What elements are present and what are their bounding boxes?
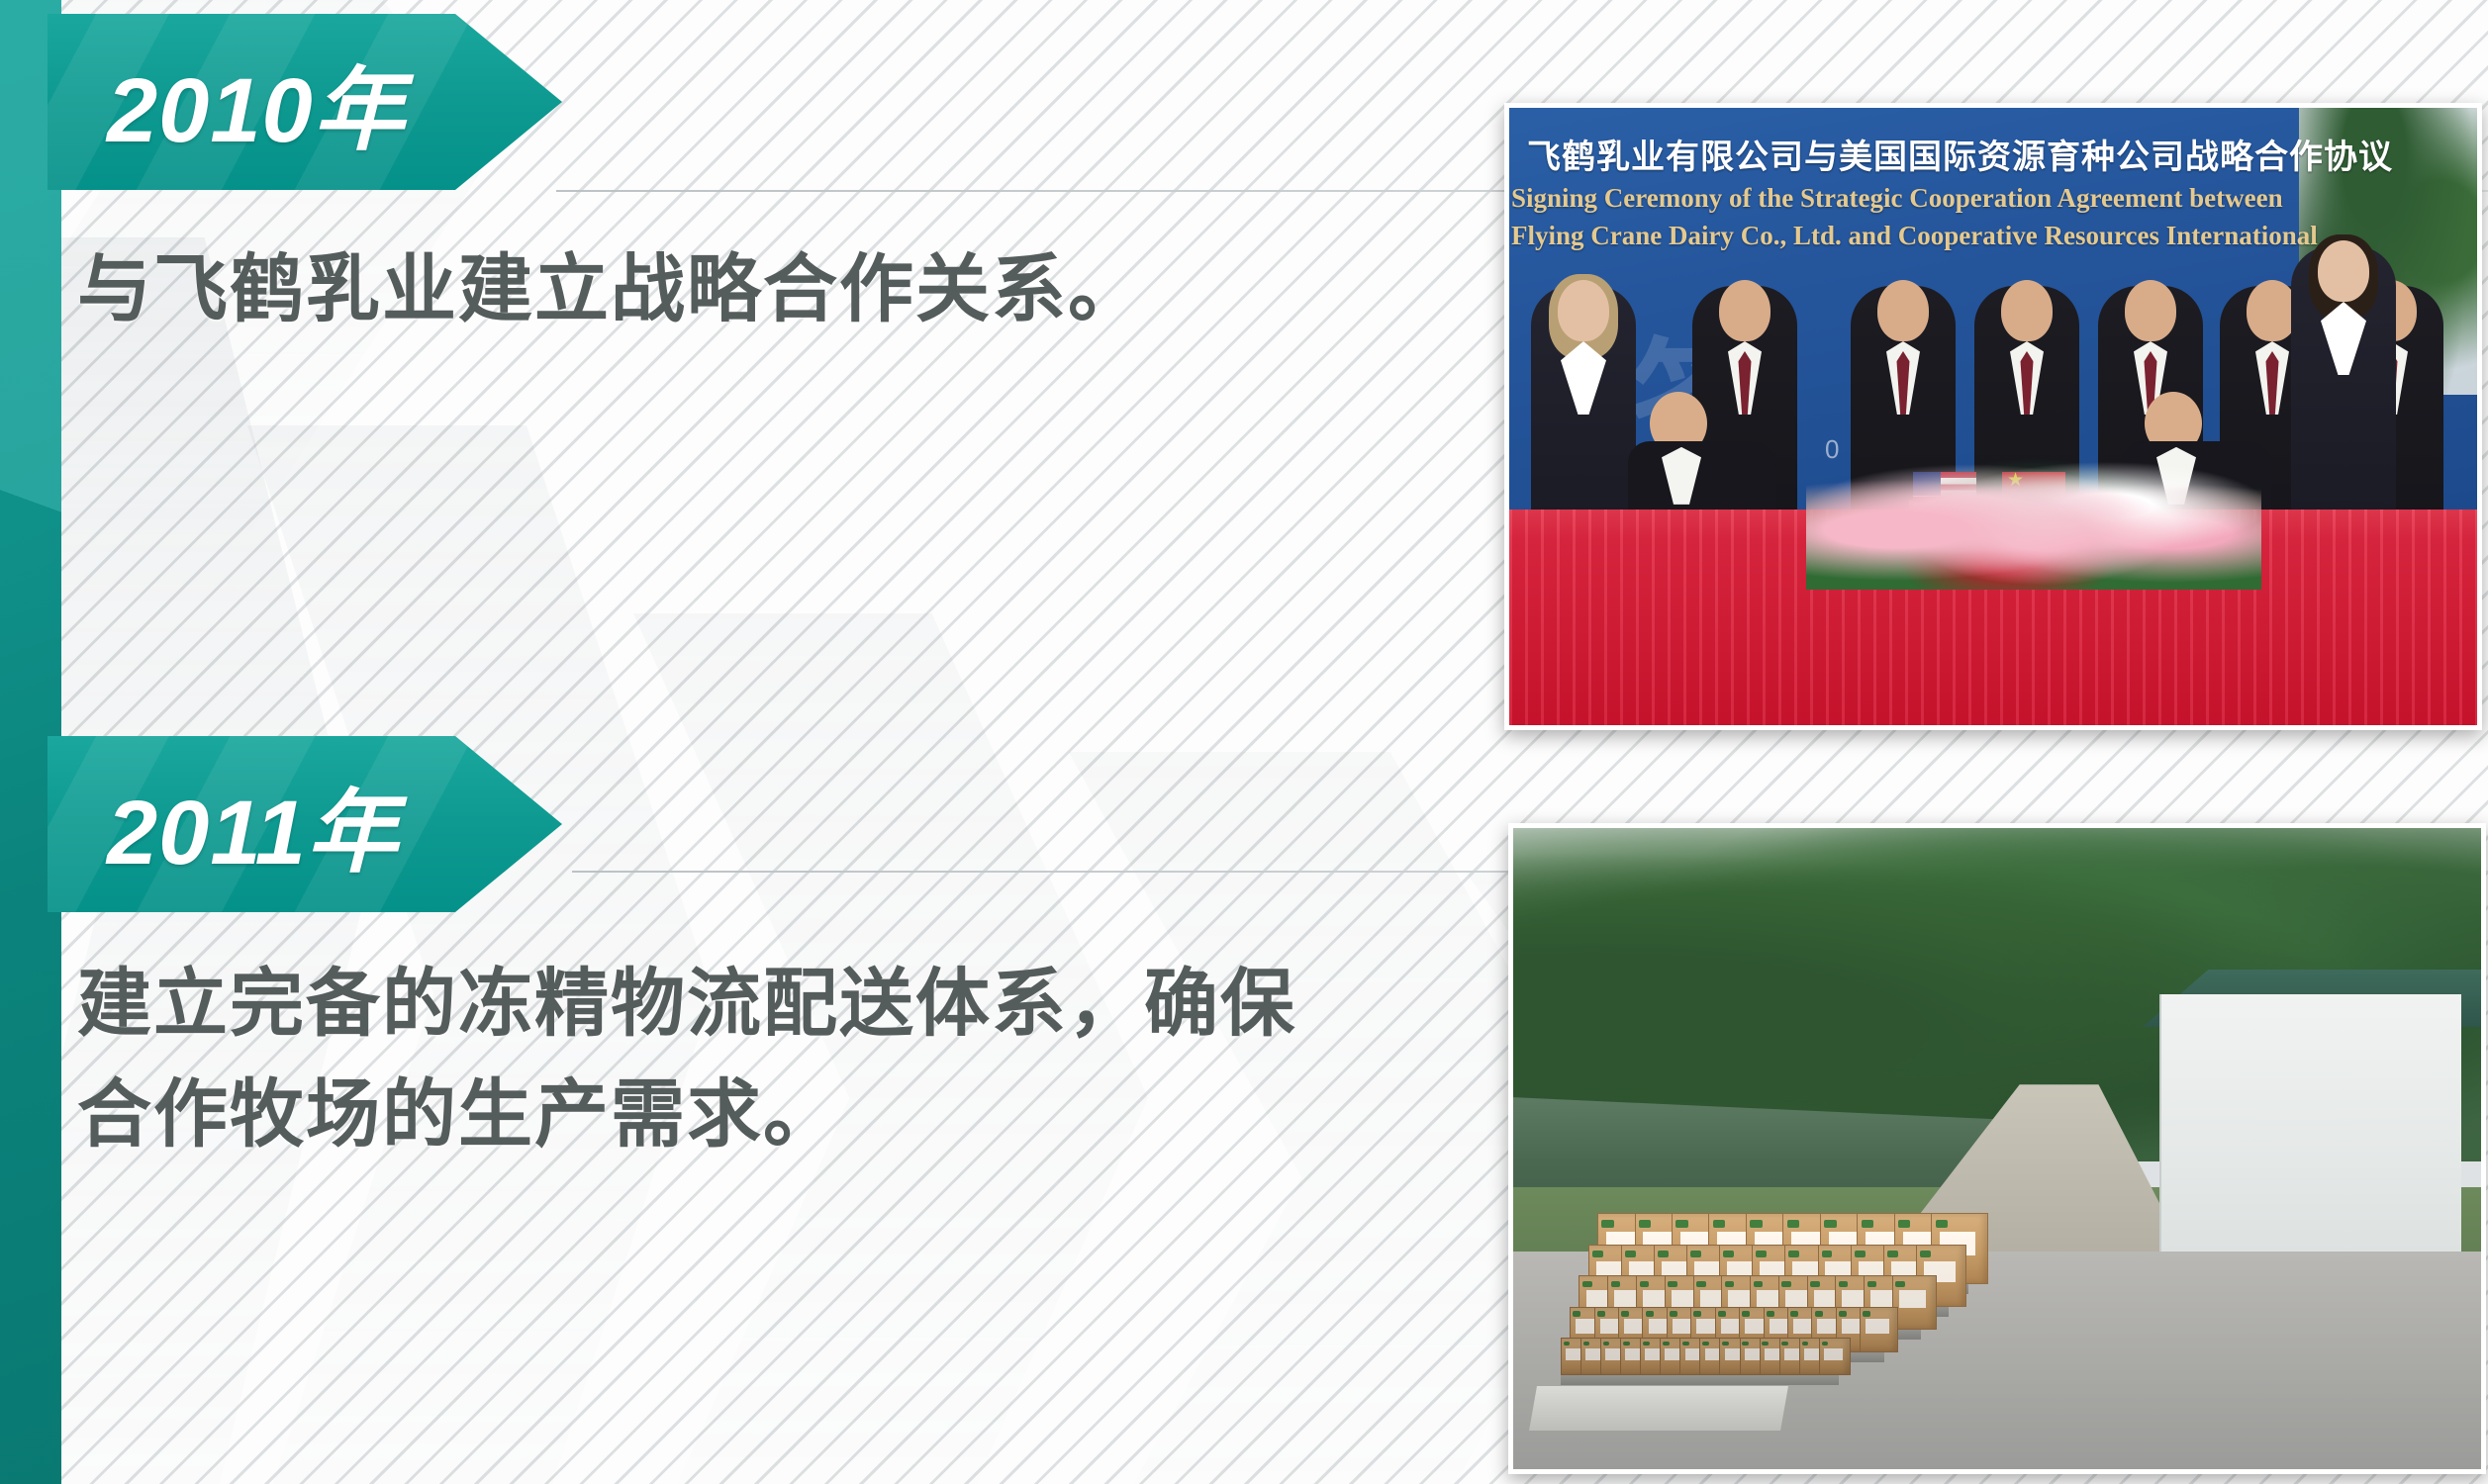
year-banner-2010: 2010年 xyxy=(48,14,562,190)
delegate-1 xyxy=(1531,286,1636,543)
delegate-shirt xyxy=(1561,341,1606,415)
pallets-of-boxes-photo xyxy=(1508,823,2486,1474)
cardboard-box xyxy=(1892,1275,1937,1330)
year-label-2011: 2011年 xyxy=(107,759,399,890)
delegate-head xyxy=(1719,280,1770,341)
delegate-head xyxy=(2125,280,2176,341)
year-label-2010: 2010年 xyxy=(107,37,406,168)
photo2-box-pallets xyxy=(1542,1187,2461,1379)
cardboard-box xyxy=(1860,1307,1898,1353)
flower-arrangement xyxy=(1806,441,2261,590)
delegate-8 xyxy=(2291,246,2396,543)
slide-canvas: 2010年 与飞鹤乳业建立战略合作关系。 飞鹤乳业有限公司与美国国际资源育种公司… xyxy=(0,0,2488,1484)
signing-ceremony-photo: 飞鹤乳业有限公司与美国国际资源育种公司战略合作协议 Signing Ceremo… xyxy=(1504,103,2482,730)
delegate-head xyxy=(2318,240,2369,302)
delegate-head xyxy=(2001,280,2053,341)
banner-title-english-line-1: Signing Ceremony of the Strategic Cooper… xyxy=(1511,179,2358,217)
delegate-shirt xyxy=(2321,302,2366,375)
milestone-text-2011: 建立完备的冻精物流配送体系，确保 合作牧场的生产需求。 xyxy=(77,948,1483,1169)
milestone-text-2010: 与飞鹤乳业建立战略合作关系。 xyxy=(77,233,1413,344)
banner-title-chinese: 飞鹤乳业有限公司与美国国际资源育种公司战略合作协议 xyxy=(1527,130,2319,178)
delegate-head xyxy=(1558,280,1609,341)
year-banner-2011: 2011年 xyxy=(48,736,562,912)
banner-title-english: Signing Ceremony of the Strategic Cooper… xyxy=(1511,179,2358,254)
photo2-concrete-curb xyxy=(1529,1386,1788,1431)
cardboard-box xyxy=(1819,1338,1851,1375)
delegate-head xyxy=(1877,280,1929,341)
